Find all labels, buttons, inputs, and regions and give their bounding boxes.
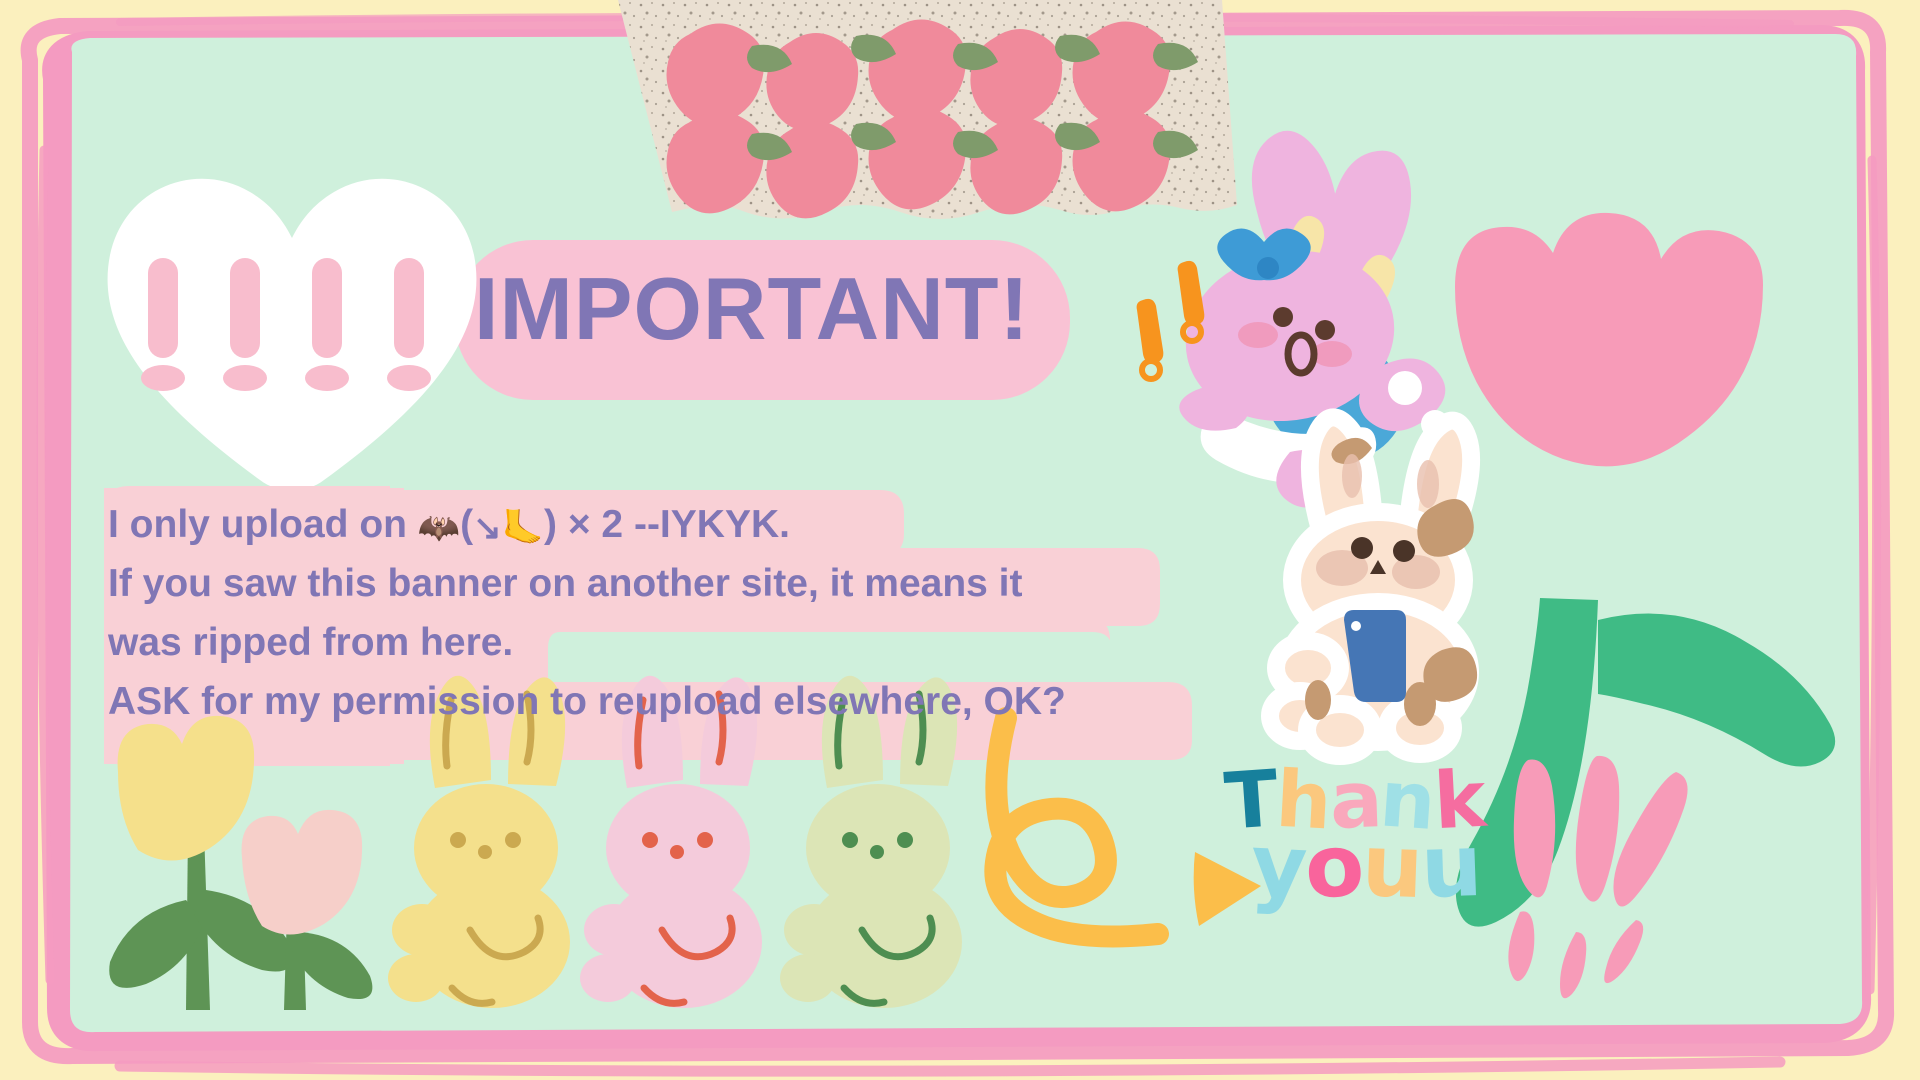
letter-u-1: u [1361,823,1423,911]
letter-o: o [1303,823,1365,912]
body-line-1: I only upload on 🦇(↘🦶) × 2 --IYKYK. [108,495,1066,554]
body-line-4: ASK for my permission to reupload elsewh… [108,672,1066,731]
arrow-down-right-icon: ↘ [473,509,502,547]
bat-icon: 🦇 [418,509,460,547]
curved-arrow-icon [995,718,1158,936]
body-text: I only upload on 🦇(↘🦶) × 2 --IYKYK. If y… [108,495,1066,731]
body-line-2: If you saw this banner on another site, … [108,554,1066,613]
small-tulip-pink [242,810,373,1010]
letter-u-2: u [1420,823,1482,911]
thank-you-lettering: Thank youu [1225,762,1484,910]
page-title: IMPORTANT! [474,265,1030,353]
thank-you-row-2: youu [1251,824,1484,910]
big-tulip [1455,213,1835,998]
body-line-3: was ripped from here. [108,613,1066,672]
bunny-with-phone-sticker [1270,417,1477,756]
letter-y: y [1249,823,1307,912]
foot-icon: 🦶 [502,509,544,547]
banner-canvas: IMPORTANT! I only upload on 🦇(↘🦶) × 2 --… [0,0,1920,1080]
tulip-petal-sparks [1508,756,1687,998]
